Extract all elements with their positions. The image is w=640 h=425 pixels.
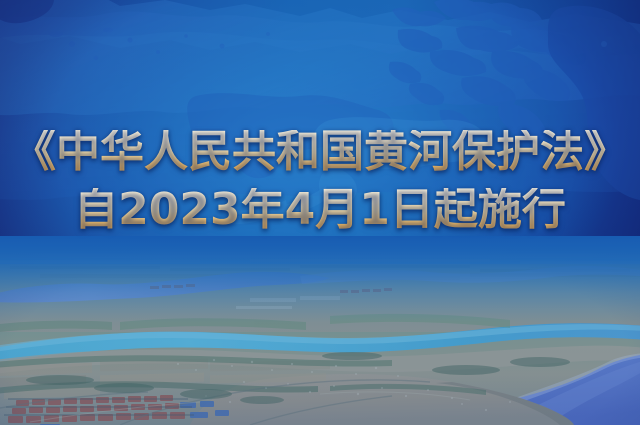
yellow-river-aerial-photo	[0, 236, 640, 425]
poster-image: 《中华人民共和国黄河保护法》 自2023年4月1日起施行	[0, 0, 640, 425]
